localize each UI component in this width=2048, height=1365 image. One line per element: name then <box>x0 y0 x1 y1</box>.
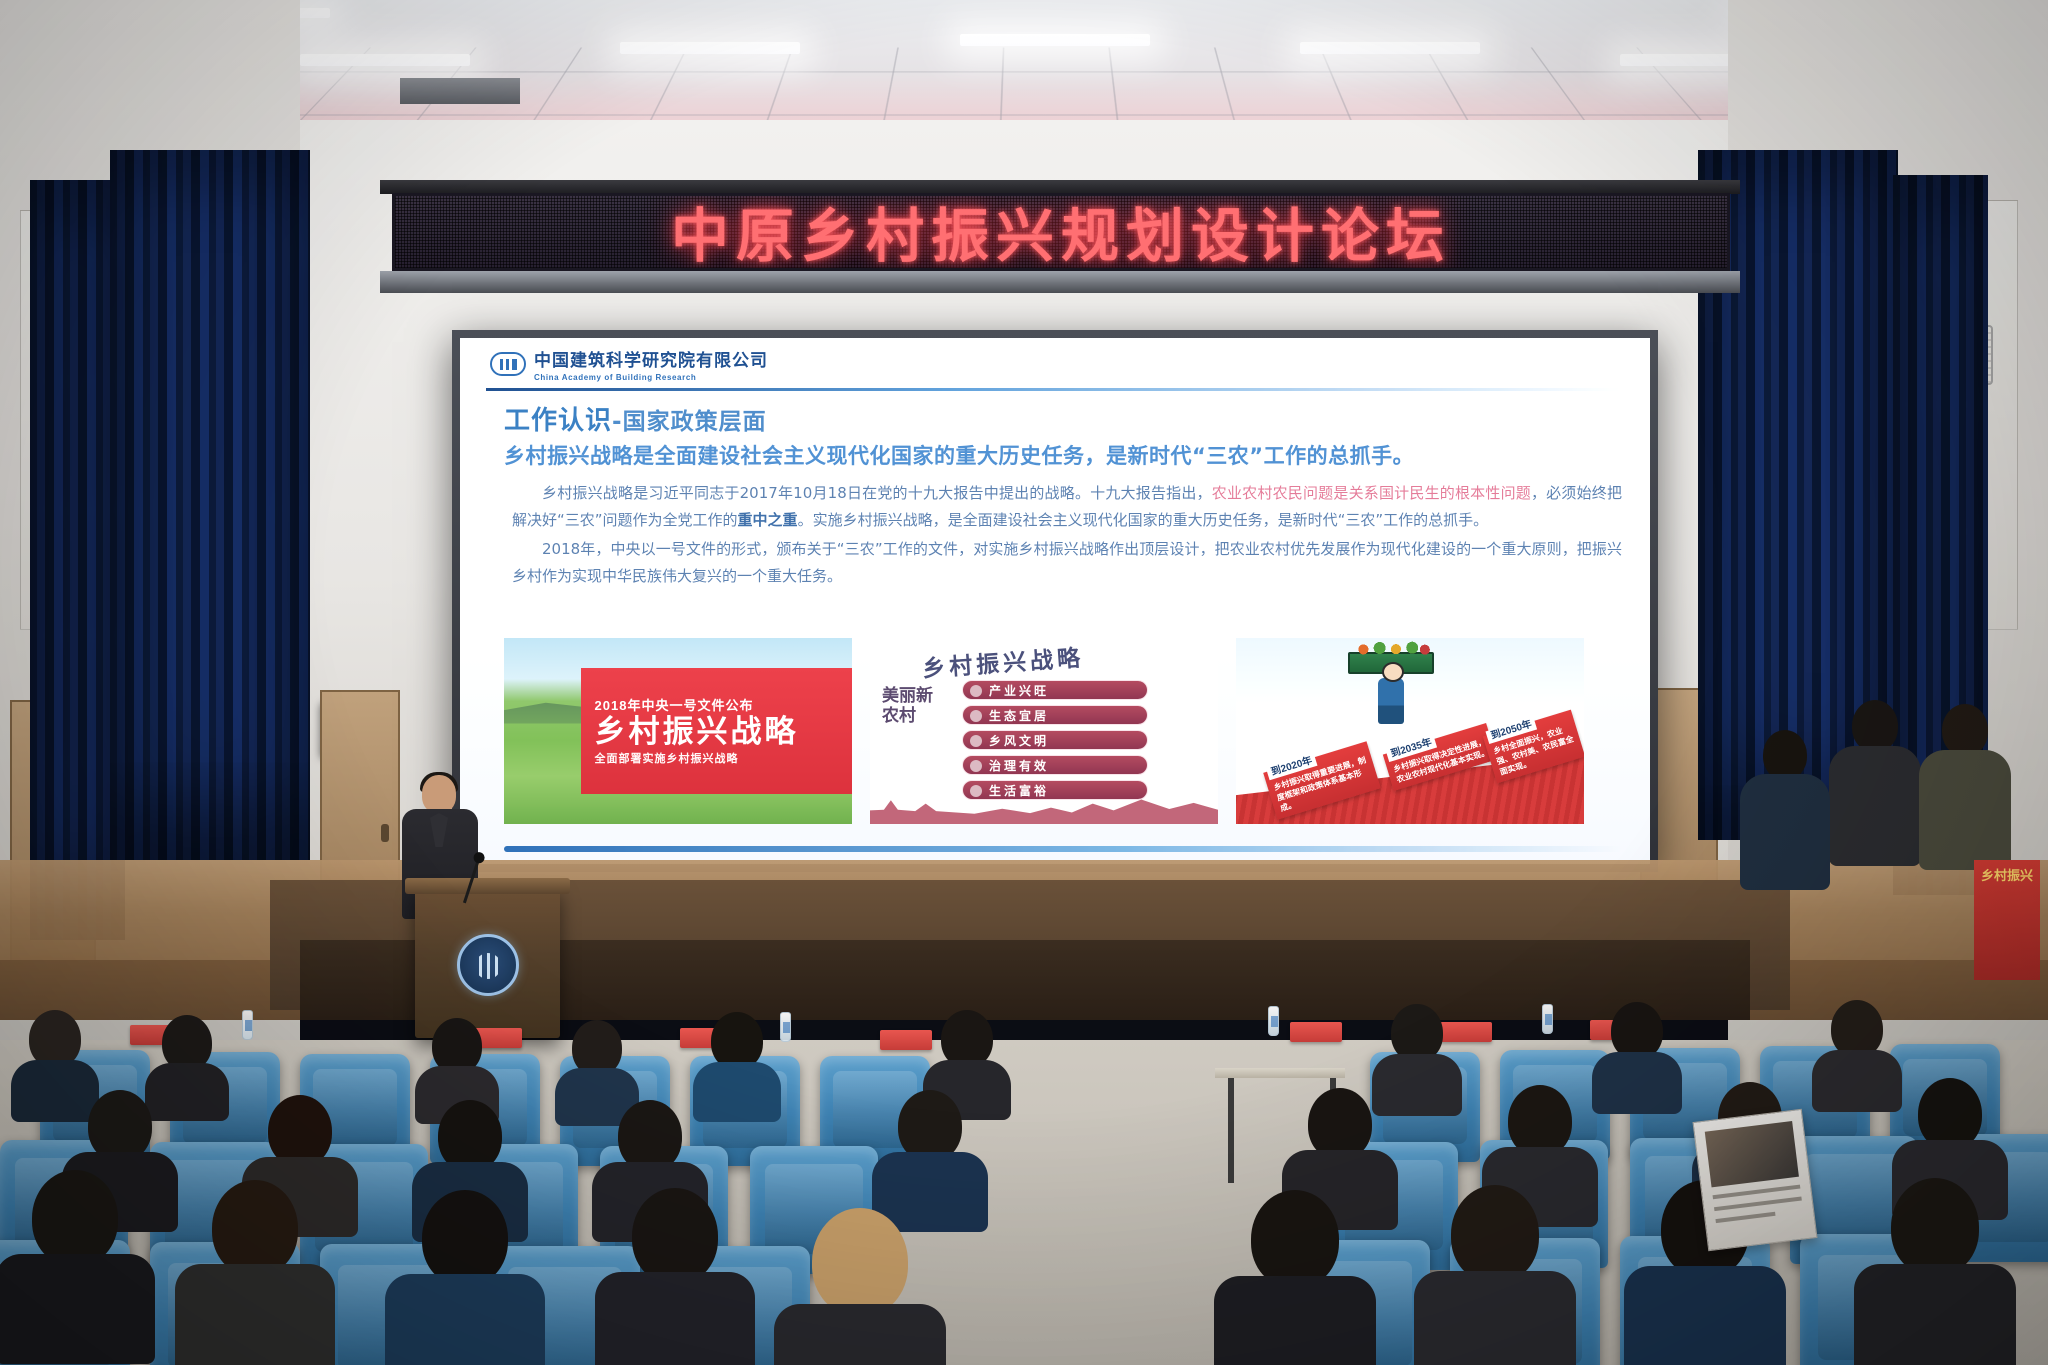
name-plate <box>1290 1022 1342 1042</box>
led-banner: 中原乡村振兴规划设计论坛 <box>392 193 1730 271</box>
audience-member <box>1380 1004 1454 1099</box>
figure2-item: 乡风文明 <box>962 730 1148 750</box>
header-divider <box>486 388 1636 391</box>
audience-member <box>420 1018 494 1108</box>
audience-shoulders <box>595 1272 755 1365</box>
standing-attendee <box>1740 730 1830 880</box>
ceiling-light <box>620 42 800 54</box>
conference-hall-photo: 中原乡村振兴规划设计论坛 中国建筑科学研究院有限公司 China Academy… <box>0 0 2048 1365</box>
audience-shoulders <box>175 1264 335 1365</box>
water-bottle <box>242 1010 253 1040</box>
slide-body-text: 乡村振兴战略是习近平同志于2017年10月18日在党的十九大报告中提出的战略。十… <box>512 480 1622 592</box>
logo-english-name: China Academy of Building Research <box>534 373 768 382</box>
audience-area <box>0 760 2048 1365</box>
company-logo: 中国建筑科学研究院有限公司 China Academy of Building … <box>490 346 768 382</box>
audience-member <box>700 1012 774 1107</box>
figure2-left-char-3: 农 <box>882 706 899 726</box>
audience-member <box>610 1188 740 1358</box>
standing-attendee-body <box>1829 746 1921 866</box>
ceiling-vent <box>400 78 520 104</box>
audience-member <box>1230 1190 1360 1365</box>
slide-title: 工作认识-国家政策层面 <box>504 400 767 437</box>
slide-title-sub: 国家政策层面 <box>623 409 767 435</box>
booklet-text-line <box>1713 1185 1801 1200</box>
ceiling-light <box>300 54 470 66</box>
led-banner-frame-top <box>380 180 1740 194</box>
water-bottle <box>1268 1006 1279 1036</box>
audience-member <box>560 1020 634 1110</box>
audience-shoulders <box>1812 1050 1902 1112</box>
figure1-line2: 乡村振兴战略 <box>595 714 852 750</box>
audience-shoulders <box>1592 1052 1682 1114</box>
standing-attendee-head <box>1852 700 1898 752</box>
audience-shoulders <box>1624 1266 1786 1365</box>
figure2-item: 生态宜居 <box>962 705 1148 725</box>
booklet-text-line <box>1714 1196 1802 1211</box>
para1-highlight-strong: 重中之重 <box>738 511 798 529</box>
audience-shoulders <box>0 1254 155 1364</box>
audience-member <box>190 1180 320 1350</box>
water-bottle <box>780 1012 791 1042</box>
audience-head <box>32 1170 118 1266</box>
audience-head <box>422 1190 508 1286</box>
audience-head <box>1451 1185 1539 1283</box>
figure2-item: 产业兴旺 <box>962 680 1148 700</box>
figure2-left-label: 美丽新农村 <box>882 686 944 726</box>
slide-header: 中国建筑科学研究院有限公司 China Academy of Building … <box>460 338 1650 392</box>
figure3-farmer-cartoon <box>1348 652 1434 724</box>
logo-chinese-name: 中国建筑科学研究院有限公司 <box>534 346 768 371</box>
standing-attendee-head <box>1942 704 1988 756</box>
water-bottle <box>1542 1004 1553 1034</box>
audience-member <box>880 1090 980 1210</box>
booklet-cover-image <box>1705 1121 1799 1187</box>
figure3-figure-body <box>1378 678 1404 724</box>
audience-shoulders <box>774 1304 946 1365</box>
audience-member <box>790 1208 930 1365</box>
audience-shoulders <box>1214 1276 1376 1365</box>
slide-title-separator: - <box>612 409 623 435</box>
ceiling-light <box>1300 42 1480 54</box>
cabr-logo-icon <box>490 352 526 376</box>
audience-member <box>1820 1000 1894 1095</box>
audience-head <box>1891 1178 1979 1276</box>
para1-highlight-red: 农业农村农民问题是关系国计民生的根本性问题 <box>1212 484 1531 502</box>
audience-head <box>212 1180 298 1276</box>
held-booklet <box>1692 1109 1817 1251</box>
led-banner-text: 中原乡村振兴规划设计论坛 <box>671 193 1451 271</box>
name-plate <box>880 1030 932 1050</box>
audience-shoulders <box>1414 1271 1576 1365</box>
figure2-left-char-4: 村 <box>899 706 916 726</box>
audience-shoulders <box>693 1062 781 1122</box>
slide-paragraph-2: 2018年，中央以一号文件的形式，颁布关于“三农”工作的文件，对实施乡村振兴战略… <box>512 536 1622 590</box>
figure2-left-char-1: 丽 <box>899 686 916 706</box>
side-wall-banner: 乡村振兴 <box>1974 860 2040 980</box>
slide-paragraph-1: 乡村振兴战略是习近平同志于2017年10月18日在党的十九大报告中提出的战略。十… <box>512 480 1622 534</box>
slide-title-main: 工作认识 <box>504 406 612 436</box>
standing-attendee-body <box>1919 750 2011 870</box>
standing-attendee <box>1920 704 2010 864</box>
figure2-title: 乡村振兴战略 <box>921 638 1085 683</box>
standing-attendee-body <box>1740 774 1830 890</box>
figure1-line1: 2018年中央一号文件公布 <box>595 695 852 714</box>
booklet-text-line <box>1715 1212 1775 1223</box>
audience-shoulders <box>1854 1264 2016 1365</box>
led-banner-frame-bottom <box>380 271 1740 293</box>
audience-head <box>1251 1190 1339 1288</box>
audience-member <box>1430 1185 1560 1360</box>
ceiling-light <box>960 34 1150 46</box>
para1-part-c: 。实施乡村振兴战略，是全面建设社会主义现代化国家的重大历史任务，是新时代“三农”… <box>798 511 1489 529</box>
para1-part-a: 乡村振兴战略是习近平同志于2017年10月18日在党的十九大报告中提出的战略。十… <box>542 484 1212 502</box>
audience-member <box>18 1010 92 1100</box>
audience-member <box>1600 1002 1674 1097</box>
audience-head <box>812 1208 908 1316</box>
figure2-left-char-2: 新 <box>916 686 933 706</box>
audience-member <box>10 1170 140 1340</box>
standing-attendee <box>1830 700 1920 860</box>
audience-head <box>632 1188 718 1284</box>
slide-lead-statement: 乡村振兴战略是全面建设社会主义现代化国家的重大历史任务，是新时代“三农”工作的总… <box>504 440 1624 470</box>
audience-shoulders <box>385 1274 545 1365</box>
audience-member <box>400 1190 530 1360</box>
audience-member <box>1870 1178 2000 1353</box>
stage-curtain-left <box>110 150 310 860</box>
standing-attendee-head <box>1763 730 1807 780</box>
figure2-left-char-0: 美 <box>882 686 899 706</box>
